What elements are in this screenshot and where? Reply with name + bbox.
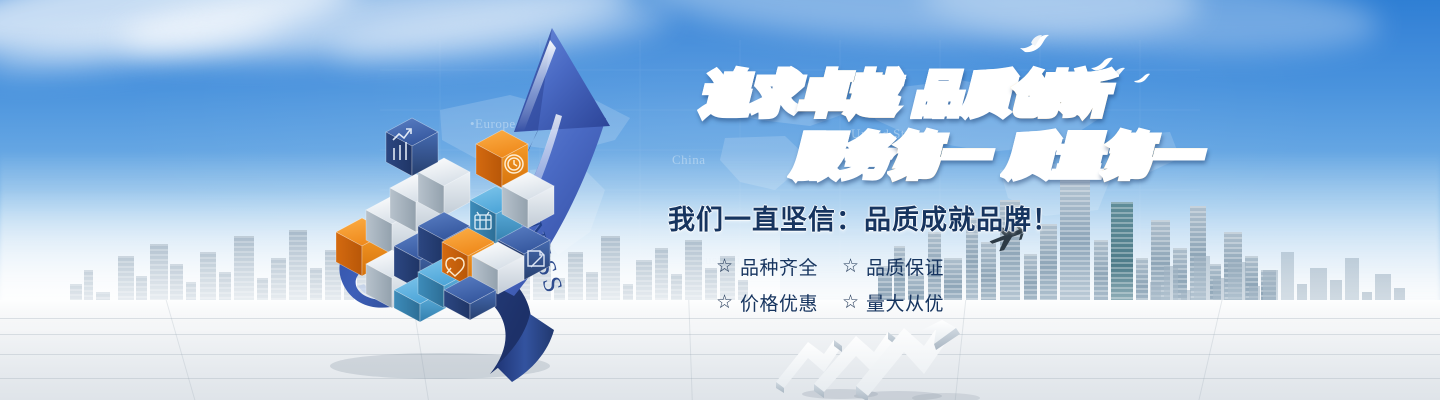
- feature-label: 品质保证: [866, 253, 944, 280]
- star-outline-icon: ☆: [716, 293, 733, 312]
- headline-seg-orange: 创新: [1010, 69, 1108, 122]
- feature-label: 价格优惠: [740, 289, 818, 316]
- copy-block: 追求卓越品质创新 服务第一质量第一 我们一直坚信：品质成就品牌！ ☆ 品种齐全 …: [664, 72, 1224, 316]
- white-growth-arrows-graphic: [770, 320, 1000, 400]
- headline-seg-orange: 第一: [1102, 131, 1200, 184]
- headline-seg-blue: 品质: [912, 69, 1010, 122]
- subtitle: 我们一直坚信：品质成就品牌！: [668, 198, 1224, 237]
- headline-seg-blue: 质量: [1004, 131, 1102, 184]
- promo-banner: •Europe •United States China •Australia: [0, 0, 1440, 400]
- feature-list: ☆ 品种齐全 ☆ 品质保证 ☆ 价格优惠 ☆ 量大从优: [716, 253, 1224, 316]
- headline-seg-blue: 追求: [700, 69, 798, 122]
- dove-icon: [1018, 32, 1052, 54]
- feature-item: ☆ 品质保证: [842, 253, 964, 280]
- rubiks-cube-graphic: [330, 100, 560, 315]
- feature-item: ☆ 价格优惠: [716, 289, 838, 316]
- headline-seg-orange: 卓越: [798, 69, 896, 122]
- headline-line-2: 服务第一质量第一: [792, 134, 1200, 182]
- feature-label: 量大从优: [866, 289, 944, 316]
- headline-seg-orange: 第一: [890, 131, 988, 184]
- feature-item: ☆ 量大从优: [842, 289, 964, 316]
- headline: 追求卓越品质创新 服务第一质量第一: [664, 72, 1224, 192]
- star-outline-icon: ☆: [842, 257, 859, 276]
- star-outline-icon: ☆: [716, 257, 733, 276]
- headline-seg-blue: 服务: [792, 131, 890, 184]
- feature-label: 品种齐全: [740, 253, 818, 280]
- headline-line-1: 追求卓越品质创新: [700, 72, 1108, 120]
- feature-item: ☆ 品种齐全: [716, 253, 838, 280]
- star-outline-icon: ☆: [842, 293, 859, 312]
